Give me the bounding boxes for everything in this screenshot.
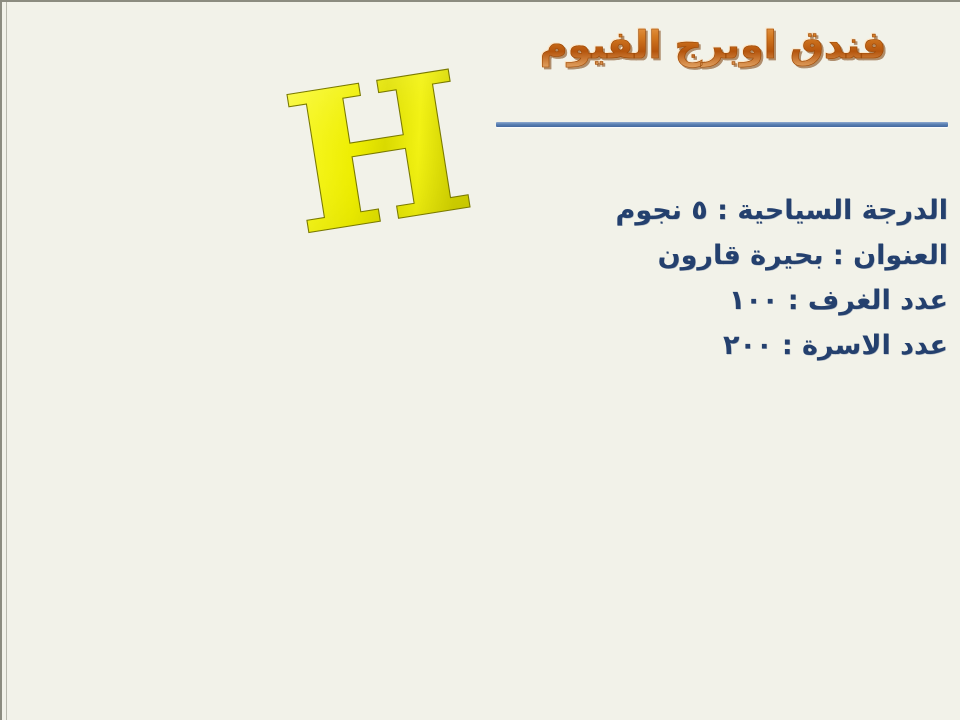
detail-line-room-count: عدد الغرف : ١٠٠ [328,278,948,323]
slide-title: فندق اوبرج الفيوم [478,24,948,68]
hotel-details-list: الدرجة السياحية : ٥ نجوم العنوان : بحيرة… [328,188,948,368]
left-edge-rule [6,2,7,720]
detail-line-address: العنوان : بحيرة قارون [328,233,948,278]
title-divider [496,122,948,127]
detail-line-bed-count: عدد الاسرة : ٢٠٠ [328,323,948,368]
detail-line-tourist-grade: الدرجة السياحية : ٥ نجوم [328,188,948,233]
slide-canvas: H H فندق اوبرج الفيوم الدرجة السياحية : … [0,0,960,720]
slide-title-text: فندق اوبرج الفيوم [540,24,887,68]
